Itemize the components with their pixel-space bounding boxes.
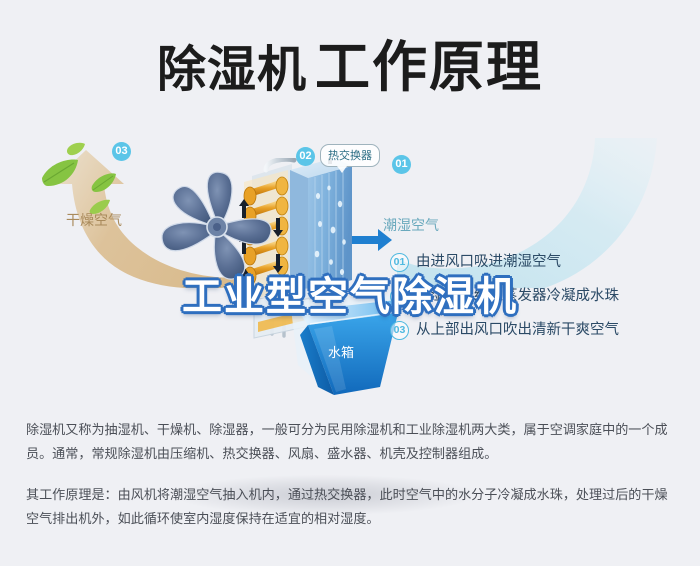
- page-title: 除湿机工作原理: [0, 22, 700, 102]
- dry-air-label: 干燥空气: [66, 210, 122, 230]
- title-part-b: 工作原理: [315, 35, 543, 99]
- heat-exchanger-tag: 热交换器: [320, 144, 380, 167]
- diagram-badge-01: 01: [392, 155, 411, 174]
- title-part-a: 除湿机: [157, 41, 307, 98]
- paragraph-1: 除湿机又称为抽湿机、干燥机、除湿器，一般可分为民用除湿机和工业除湿机两大类，属于…: [26, 418, 678, 466]
- water-tank-label: 水箱: [328, 342, 354, 361]
- page-root: 除湿机工作原理: [0, 0, 700, 566]
- diagram-badge-03: 03: [112, 142, 131, 161]
- step-text: 从上部出风口吹出清新干爽空气: [416, 322, 619, 338]
- body-copy: 除湿机又称为抽湿机、干燥机、除湿器，一般可分为民用除湿机和工业除湿机两大类，属于…: [26, 418, 678, 531]
- diagram-badge-02: 02: [296, 147, 315, 166]
- list-item: 03 从上部出风口吹出清新干爽空气: [390, 320, 619, 354]
- humid-air-label: 潮湿空气: [383, 215, 439, 235]
- product-wordmark: 工业型空气除湿机: [0, 264, 700, 322]
- paragraph-2: 其工作原理是：由风机将潮湿空气抽入机内，通过热交换器，此时空气中的水分子冷凝成水…: [26, 483, 678, 531]
- step-number: 03: [390, 321, 409, 340]
